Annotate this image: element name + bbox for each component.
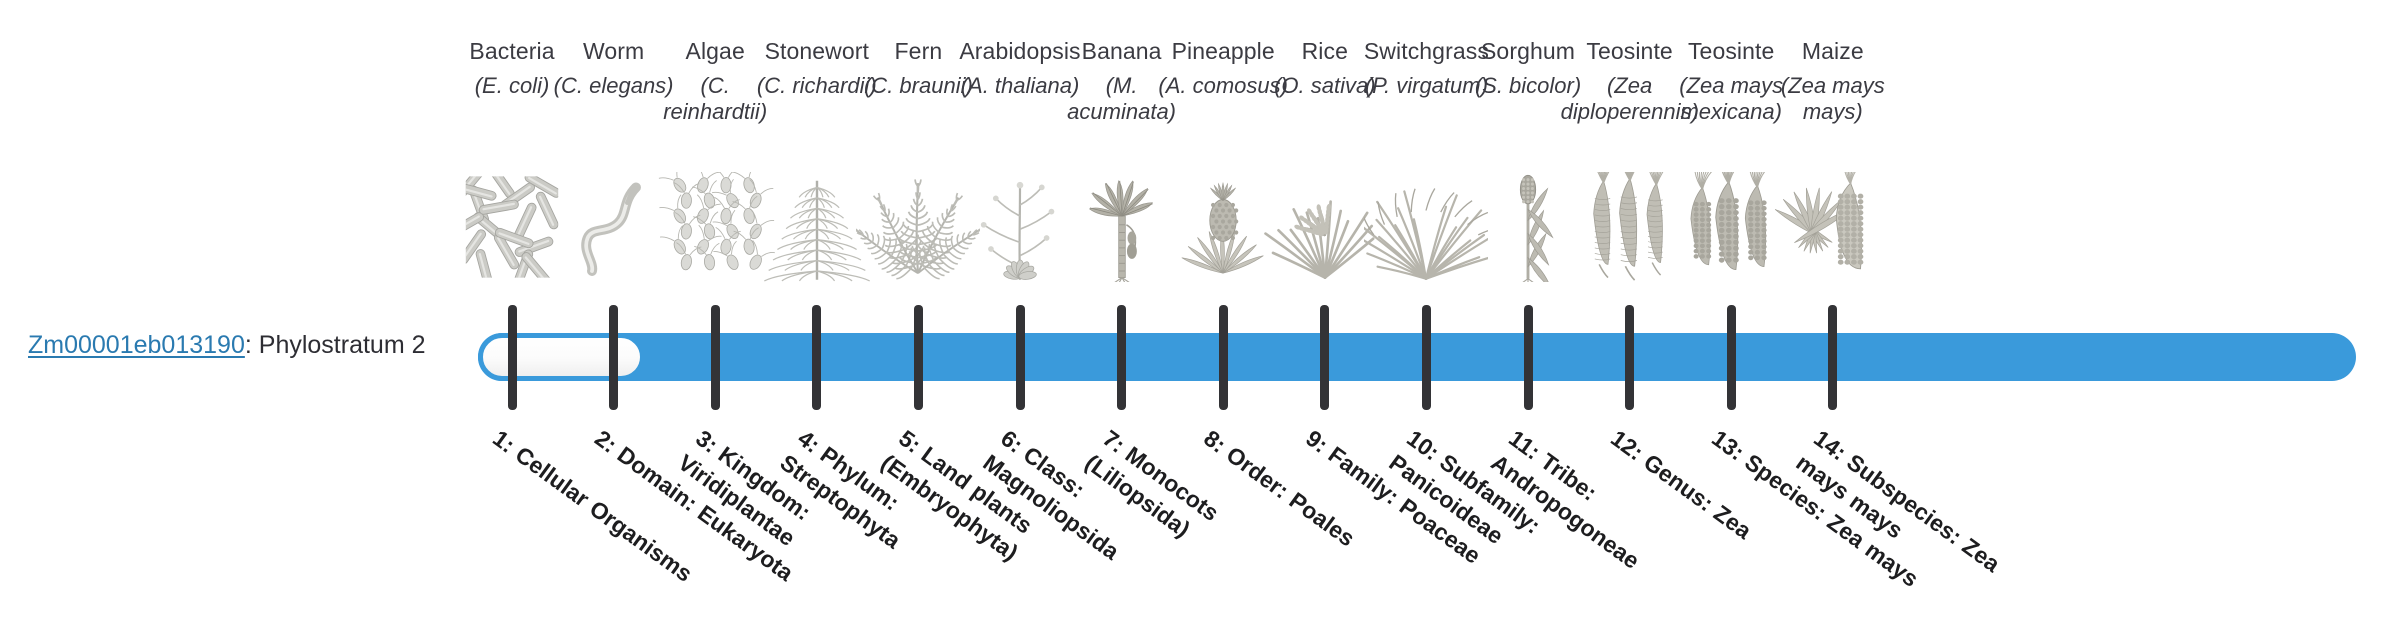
phylostratum-figure: Zm00001eb013190: Phylostratum 2 Bacteria… [0, 0, 2400, 580]
phylostratum-tick-10[interactable] [1422, 305, 1431, 410]
phylostratum-tick-3[interactable] [711, 305, 720, 410]
gene-phylostratum-value: Phylostratum 2 [259, 331, 426, 359]
species-column-14: Maize(Zea mays mays) [1758, 38, 1908, 125]
phylostratum-tick-5[interactable] [914, 305, 923, 410]
phylostratum-tick-8[interactable] [1219, 305, 1228, 410]
phylostratum-tick-13[interactable] [1727, 305, 1736, 410]
phylostratum-tick-4[interactable] [812, 305, 821, 410]
phylostratum-tick-7[interactable] [1117, 305, 1126, 410]
phylostratum-track[interactable] [478, 333, 2356, 381]
species-common-name: Maize [1758, 38, 1908, 65]
gene-label-separator: : [245, 331, 259, 359]
gene-phylostratum-label: Zm00001eb013190: Phylostratum 2 [28, 330, 448, 361]
phylostratum-tick-12[interactable] [1625, 305, 1634, 410]
gene-id-link[interactable]: Zm00001eb013190 [28, 331, 245, 359]
phylostratum-tick-14[interactable] [1828, 305, 1837, 410]
phylostratum-tick-1[interactable] [508, 305, 517, 410]
phylostratum-track-unfilled [478, 333, 645, 381]
species-latin-name: (Zea mays mays) [1758, 73, 1908, 125]
phylostratum-tick-2[interactable] [609, 305, 618, 410]
phylostratum-tick-9[interactable] [1320, 305, 1329, 410]
phylostratum-tick-6[interactable] [1016, 305, 1025, 410]
maize-ear-icon [1771, 172, 1895, 282]
phylostratum-tick-11[interactable] [1524, 305, 1533, 410]
